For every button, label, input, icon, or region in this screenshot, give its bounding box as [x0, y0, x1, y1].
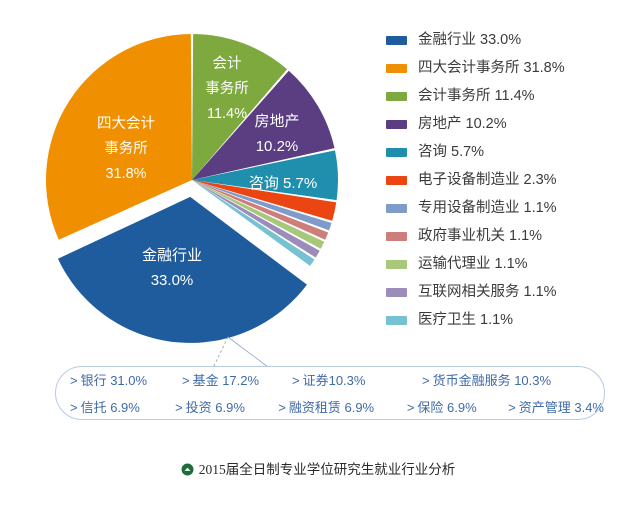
legend-item-label: 互联网相关服务 1.1%	[418, 285, 557, 300]
legend-item[interactable]: 医疗卫生 1.1%	[386, 306, 632, 334]
callout-item: >投资 6.9%	[175, 401, 278, 414]
legend-swatch-icon	[386, 204, 407, 213]
callout-item: >资产管理 3.4%	[508, 401, 604, 414]
legend-swatch-icon	[386, 288, 407, 297]
callout-bullet-icon: >	[182, 373, 190, 388]
callout-item-label: 信托 6.9%	[81, 400, 140, 415]
callout-bullet-icon: >	[422, 373, 430, 388]
legend-item-label: 咨询 5.7%	[418, 145, 484, 160]
legend-item[interactable]: 运输代理业 1.1%	[386, 250, 632, 278]
legend-item-label: 医疗卫生 1.1%	[418, 313, 513, 328]
legend-item[interactable]: 咨询 5.7%	[386, 138, 632, 166]
finance-breakdown-callout: >银行 31.0%>基金 17.2%>证券10.3%>货币金融服务 10.3%>…	[55, 366, 605, 420]
callout-bullet-icon: >	[508, 400, 516, 415]
callout-bullet-icon: >	[70, 400, 78, 415]
callout-item: >银行 31.0%	[70, 374, 182, 387]
legend-item[interactable]: 电子设备制造业 2.3%	[386, 166, 632, 194]
callout-item-label: 投资 6.9%	[186, 400, 245, 415]
callout-item-label: 基金 17.2%	[193, 373, 259, 388]
legend-item[interactable]: 互联网相关服务 1.1%	[386, 278, 632, 306]
callout-item: >基金 17.2%	[182, 374, 292, 387]
legend-swatch-icon	[386, 36, 407, 45]
callout-item-label: 银行 31.0%	[81, 373, 147, 388]
callout-item-label: 货币金融服务 10.3%	[433, 373, 551, 388]
legend-item-label: 四大会计事务所 31.8%	[418, 61, 565, 76]
legend-item-label: 金融行业 33.0%	[418, 33, 521, 48]
legend-swatch-icon	[386, 316, 407, 325]
legend-item-label: 房地产 10.2%	[418, 117, 507, 132]
legend-item[interactable]: 四大会计事务所 31.8%	[386, 54, 632, 82]
legend-swatch-icon	[386, 176, 407, 185]
legend-item-label: 政府事业机关 1.1%	[418, 229, 542, 244]
legend-swatch-icon	[386, 148, 407, 157]
callout-bullet-icon: >	[407, 400, 415, 415]
callout-bullet-icon: >	[70, 373, 78, 388]
callout-item: >保险 6.9%	[407, 401, 508, 414]
chart-canvas: 四大会计事务所31.8%会计事务所11.4%房地产10.2%咨询 5.7%金融行…	[0, 0, 636, 505]
callout-bullet-icon: >	[278, 400, 286, 415]
legend-item-label: 专用设备制造业 1.1%	[418, 201, 557, 216]
legend-swatch-icon	[386, 64, 407, 73]
legend-swatch-icon	[386, 260, 407, 269]
legend-item-label: 电子设备制造业 2.3%	[418, 173, 557, 188]
chevron-up-circle-icon	[181, 463, 194, 476]
legend-item[interactable]: 专用设备制造业 1.1%	[386, 194, 632, 222]
callout-row: >银行 31.0%>基金 17.2%>证券10.3%>货币金融服务 10.3%	[56, 367, 604, 394]
callout-item: >货币金融服务 10.3%	[422, 374, 551, 387]
legend-swatch-icon	[386, 232, 407, 241]
pie-chart: 四大会计事务所31.8%会计事务所11.4%房地产10.2%咨询 5.7%金融行…	[0, 0, 380, 350]
legend-swatch-icon	[386, 120, 407, 129]
callout-item-label: 保险 6.9%	[417, 400, 476, 415]
legend-item-label: 运输代理业 1.1%	[418, 257, 528, 272]
callout-item: >证券10.3%	[292, 374, 422, 387]
legend-item-label: 会计事务所 11.4%	[418, 89, 535, 104]
callout-item-label: 证券10.3%	[303, 373, 366, 388]
pie-slices	[46, 34, 338, 343]
callout-bullet-icon: >	[175, 400, 183, 415]
callout-bullet-icon: >	[292, 373, 300, 388]
legend-item[interactable]: 房地产 10.2%	[386, 110, 632, 138]
callout-item: >融资租赁 6.9%	[278, 401, 407, 414]
legend-item[interactable]: 政府事业机关 1.1%	[386, 222, 632, 250]
chart-caption: 2015届全日制专业学位研究生就业行业分析	[0, 463, 636, 477]
chart-caption-text: 2015届全日制专业学位研究生就业行业分析	[199, 463, 456, 477]
callout-item: >信托 6.9%	[70, 401, 175, 414]
pie-chart-svg: 四大会计事务所31.8%会计事务所11.4%房地产10.2%咨询 5.7%金融行…	[0, 0, 380, 350]
callout-item-label: 资产管理 3.4%	[519, 400, 604, 415]
chart-legend: 金融行业 33.0%四大会计事务所 31.8%会计事务所 11.4%房地产 10…	[386, 26, 632, 334]
callout-item-label: 融资租赁 6.9%	[289, 400, 374, 415]
callout-row: >信托 6.9%>投资 6.9%>融资租赁 6.9%>保险 6.9%>资产管理 …	[56, 394, 604, 421]
legend-item[interactable]: 会计事务所 11.4%	[386, 82, 632, 110]
legend-swatch-icon	[386, 92, 407, 101]
legend-item[interactable]: 金融行业 33.0%	[386, 26, 632, 54]
